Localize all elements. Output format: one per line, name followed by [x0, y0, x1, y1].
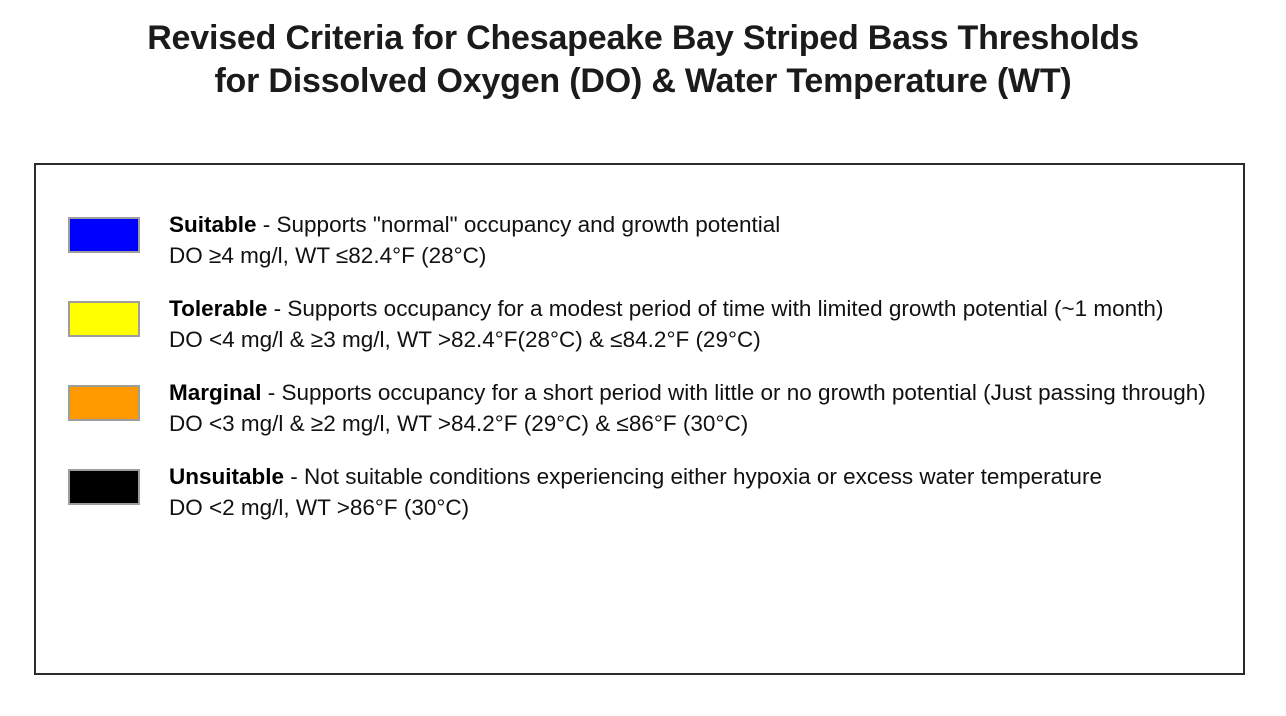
legend-entry-marginal: Marginal - Supports occupancy for a shor… [68, 377, 1225, 439]
legend-panel: Suitable - Supports "normal" occupancy a… [34, 163, 1245, 675]
legend-entry-text-tolerable: Tolerable - Supports occupancy for a mod… [169, 293, 1225, 355]
legend-threshold-marginal: DO <3 mg/l & ≥2 mg/l, WT >84.2°F (29°C) … [169, 408, 1225, 439]
legend-description-suitable: - Supports "normal" occupancy and growth… [257, 212, 781, 237]
legend-threshold-unsuitable: DO <2 mg/l, WT >86°F (30°C) [169, 492, 1225, 523]
legend-term-tolerable: Tolerable [169, 296, 267, 321]
page-title-line-1: Revised Criteria for Chesapeake Bay Stri… [0, 17, 1286, 60]
legend-threshold-tolerable: DO <4 mg/l & ≥3 mg/l, WT >82.4°F(28°C) &… [169, 324, 1225, 355]
legend-description-unsuitable: - Not suitable conditions experiencing e… [284, 464, 1102, 489]
color-swatch-unsuitable [68, 469, 140, 505]
page-title: Revised Criteria for Chesapeake Bay Stri… [0, 17, 1286, 103]
color-swatch-suitable [68, 217, 140, 253]
legend-entry-text-unsuitable: Unsuitable - Not suitable conditions exp… [169, 461, 1225, 523]
legend-entry-text-marginal: Marginal - Supports occupancy for a shor… [169, 377, 1225, 439]
legend-entry-unsuitable: Unsuitable - Not suitable conditions exp… [68, 461, 1225, 523]
legend-threshold-suitable: DO ≥4 mg/l, WT ≤82.4°F (28°C) [169, 240, 1225, 271]
legend-list: Suitable - Supports "normal" occupancy a… [68, 209, 1225, 523]
legend-entry-suitable: Suitable - Supports "normal" occupancy a… [68, 209, 1225, 271]
page-title-line-2: for Dissolved Oxygen (DO) & Water Temper… [0, 60, 1286, 103]
legend-entry-text-suitable: Suitable - Supports "normal" occupancy a… [169, 209, 1225, 271]
legend-description-marginal: - Supports occupancy for a short period … [262, 380, 1206, 405]
legend-term-unsuitable: Unsuitable [169, 464, 284, 489]
color-swatch-marginal [68, 385, 140, 421]
legend-description-tolerable: - Supports occupancy for a modest period… [267, 296, 1163, 321]
legend-term-marginal: Marginal [169, 380, 262, 405]
color-swatch-tolerable [68, 301, 140, 337]
legend-term-suitable: Suitable [169, 212, 257, 237]
legend-entry-tolerable: Tolerable - Supports occupancy for a mod… [68, 293, 1225, 355]
